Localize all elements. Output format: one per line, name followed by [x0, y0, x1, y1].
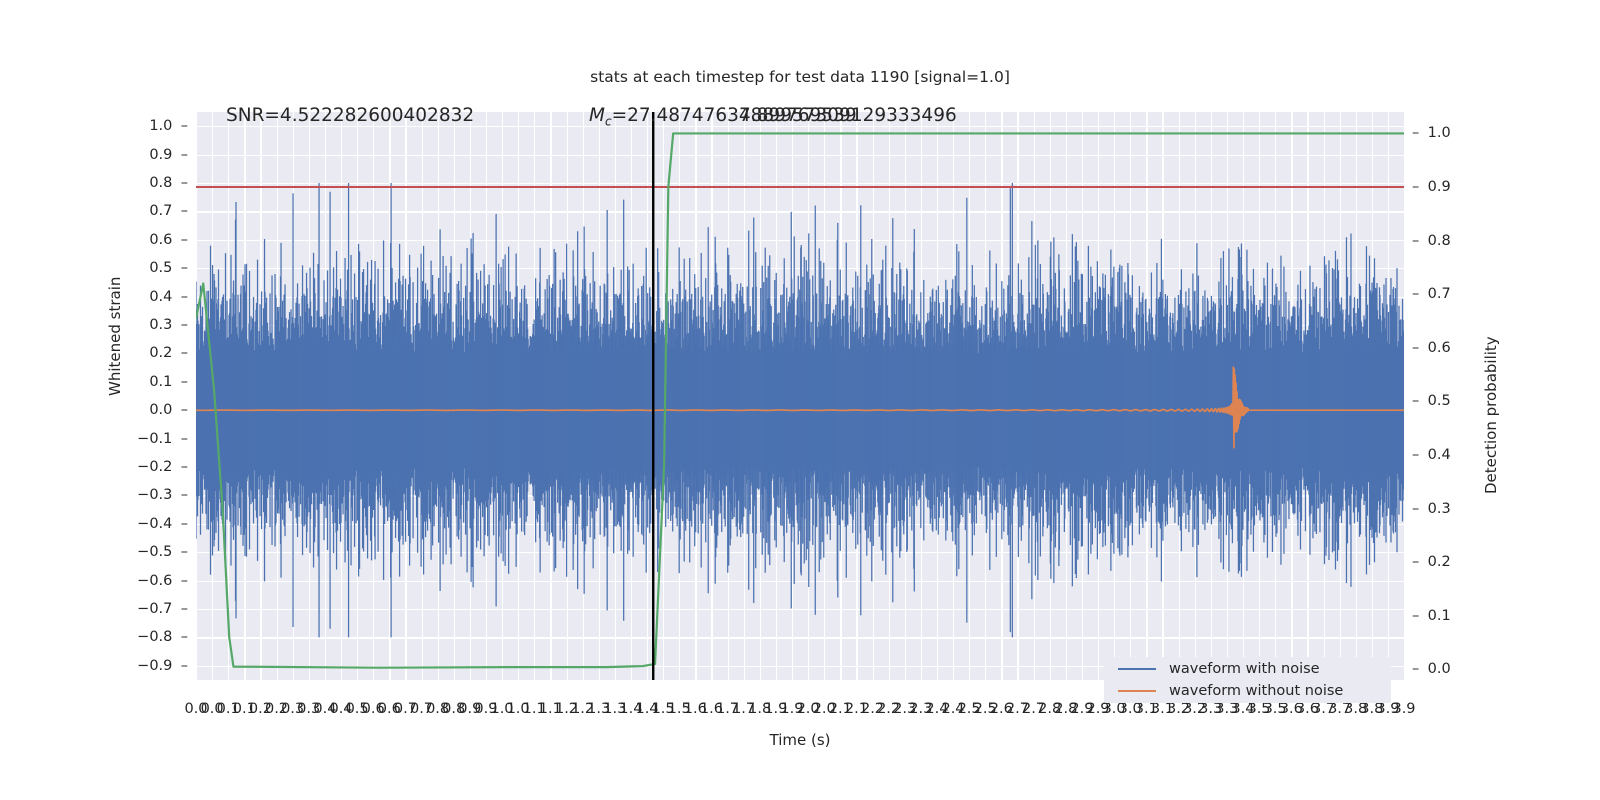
y-tick-label-left: 0.8 – — [149, 175, 188, 191]
legend-label-1: waveform without noise — [1169, 683, 1343, 699]
y-tick-label-right: – 0.2 — [1412, 554, 1451, 570]
y-tick-label-right: – 0.0 — [1412, 661, 1451, 677]
y-tick-label-left: −0.6 – — [137, 573, 188, 589]
y-tick-label-left: −0.9 – — [137, 658, 188, 674]
y-tick-label-left: 1.0 – — [149, 118, 188, 134]
y-tick-label-left: 0.3 – — [149, 317, 188, 333]
y-tick-label-left: 0.4 – — [149, 289, 188, 305]
annotation-snr: SNR=4.522282600402832 — [226, 105, 474, 126]
y-tick-label-right: – 0.5 — [1412, 393, 1451, 409]
y-tick-label-right: – 0.8 — [1412, 233, 1451, 249]
annotation-chirp-mass-overlap: 7.89957309129333496 — [739, 105, 957, 126]
x-axis-label: Time (s) — [0, 731, 1600, 749]
y-tick-label-left: −0.3 – — [137, 487, 188, 503]
legend-swatch-blue — [1118, 668, 1156, 670]
y-tick-label-left: −0.8 – — [137, 629, 188, 645]
series-layer — [196, 112, 1404, 680]
y-tick-label-left: 0.5 – — [149, 260, 188, 276]
y-tick-label-right: – 0.3 — [1412, 501, 1451, 517]
legend-label-0: waveform with noise — [1169, 661, 1320, 677]
mc-symbol: Mc — [589, 105, 612, 126]
y-tick-label-left: −0.5 – — [137, 544, 188, 560]
y-tick-label-left: 0.9 – — [149, 147, 188, 163]
plot-area — [196, 112, 1404, 680]
legend-item-waveform-with-noise[interactable]: waveform with noise — [1118, 658, 1320, 680]
y-tick-label-left: 0.0 – — [149, 402, 188, 418]
y-tick-label-right: – 0.9 — [1412, 179, 1451, 195]
y-tick-label-right: – 0.1 — [1412, 608, 1451, 624]
y-tick-label-left: −0.1 – — [137, 431, 188, 447]
page-title: stats at each timestep for test data 119… — [0, 68, 1600, 86]
y-tick-label-left: −0.2 – — [137, 459, 188, 475]
y-tick-label-right: – 0.4 — [1412, 447, 1451, 463]
x-tick-label: 3.9 — [1392, 701, 1415, 717]
legend-swatch-orange — [1118, 690, 1156, 692]
y-tick-label-left: 0.2 – — [149, 345, 188, 361]
y-tick-label-left: 0.6 – — [149, 232, 188, 248]
legend[interactable]: waveform with noise waveform without noi… — [1104, 657, 1391, 703]
legend-item-waveform-without-noise[interactable]: waveform without noise — [1118, 680, 1343, 702]
y-axis-label-left: Whitened strain — [106, 277, 124, 396]
y-tick-label-left: 0.7 – — [149, 203, 188, 219]
y-tick-label-left: −0.4 – — [137, 516, 188, 532]
y-tick-label-right: – 0.7 — [1412, 286, 1451, 302]
figure-canvas: stats at each timestep for test data 119… — [0, 0, 1600, 800]
y-tick-label-left: −0.7 – — [137, 601, 188, 617]
y-tick-label-right: – 0.6 — [1412, 340, 1451, 356]
y-tick-label-left: 0.1 – — [149, 374, 188, 390]
y-tick-label-right: – 1.0 — [1412, 125, 1451, 141]
y-axis-label-right: Detection probability — [1482, 336, 1500, 494]
